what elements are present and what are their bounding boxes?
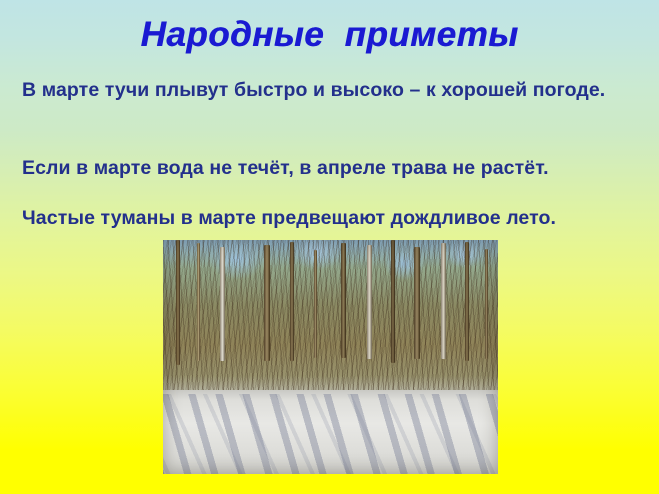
proverb-line-2: Если в марте вода не течёт, в апреле тра…: [22, 156, 642, 180]
proverb-line-3: Частые туманы в марте предвещают дождлив…: [22, 206, 642, 230]
page-title: Народные приметы: [0, 14, 659, 56]
snowy-birch-forest-photo: [163, 240, 498, 474]
presentation-slide: Народные приметы В марте тучи плывут быс…: [0, 0, 659, 494]
proverb-line-1: В марте тучи плывут быстро и высоко – к …: [22, 78, 642, 102]
photo-vignette: [163, 240, 498, 474]
